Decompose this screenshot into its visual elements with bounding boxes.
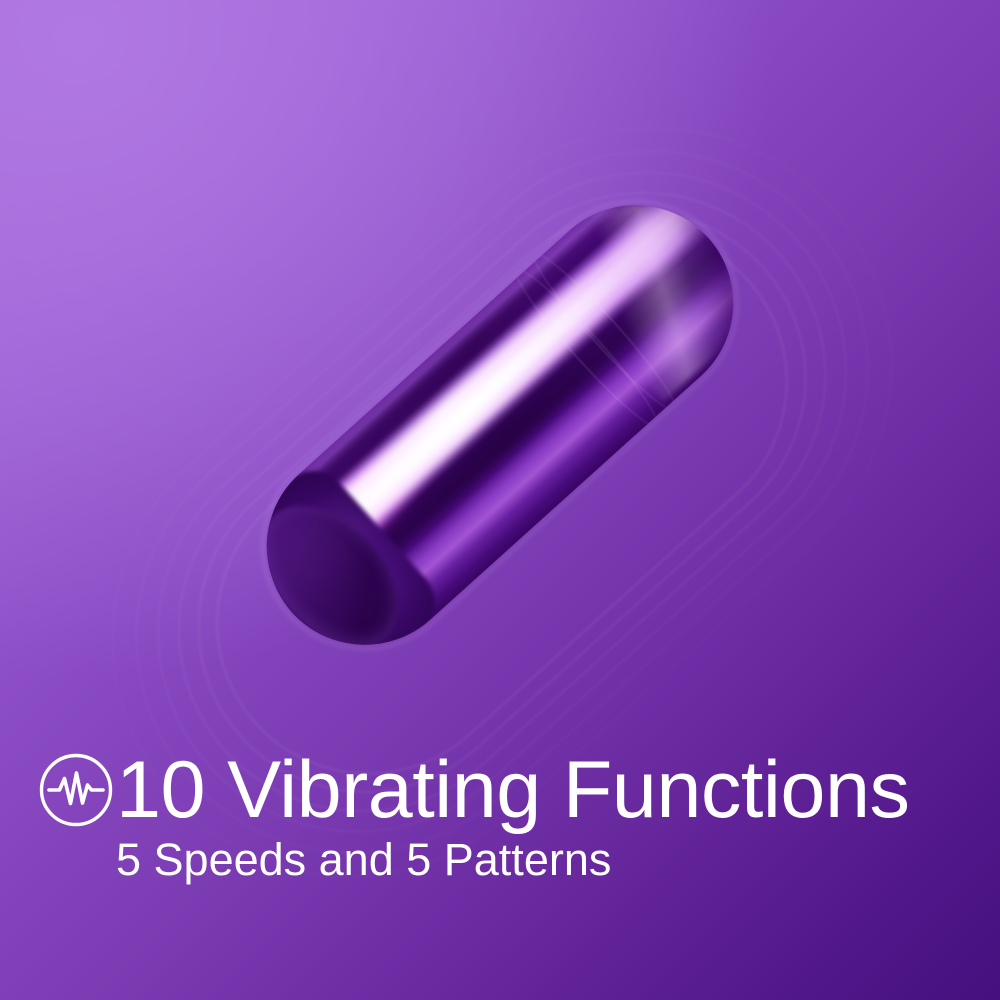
pulse-wave-circle-icon — [38, 752, 114, 828]
product-image — [226, 165, 773, 685]
headline-text: 10 Vibrating Functions — [116, 747, 910, 833]
product-feature-banner: 10 Vibrating Functions 5 Speeds and 5 Pa… — [0, 0, 1000, 1000]
headline-row: 10 Vibrating Functions — [38, 742, 910, 838]
caption-block: 10 Vibrating Functions 5 Speeds and 5 Pa… — [0, 742, 1000, 902]
subline-text: 5 Speeds and 5 Patterns — [116, 834, 611, 886]
product-edge-glow — [219, 158, 780, 692]
